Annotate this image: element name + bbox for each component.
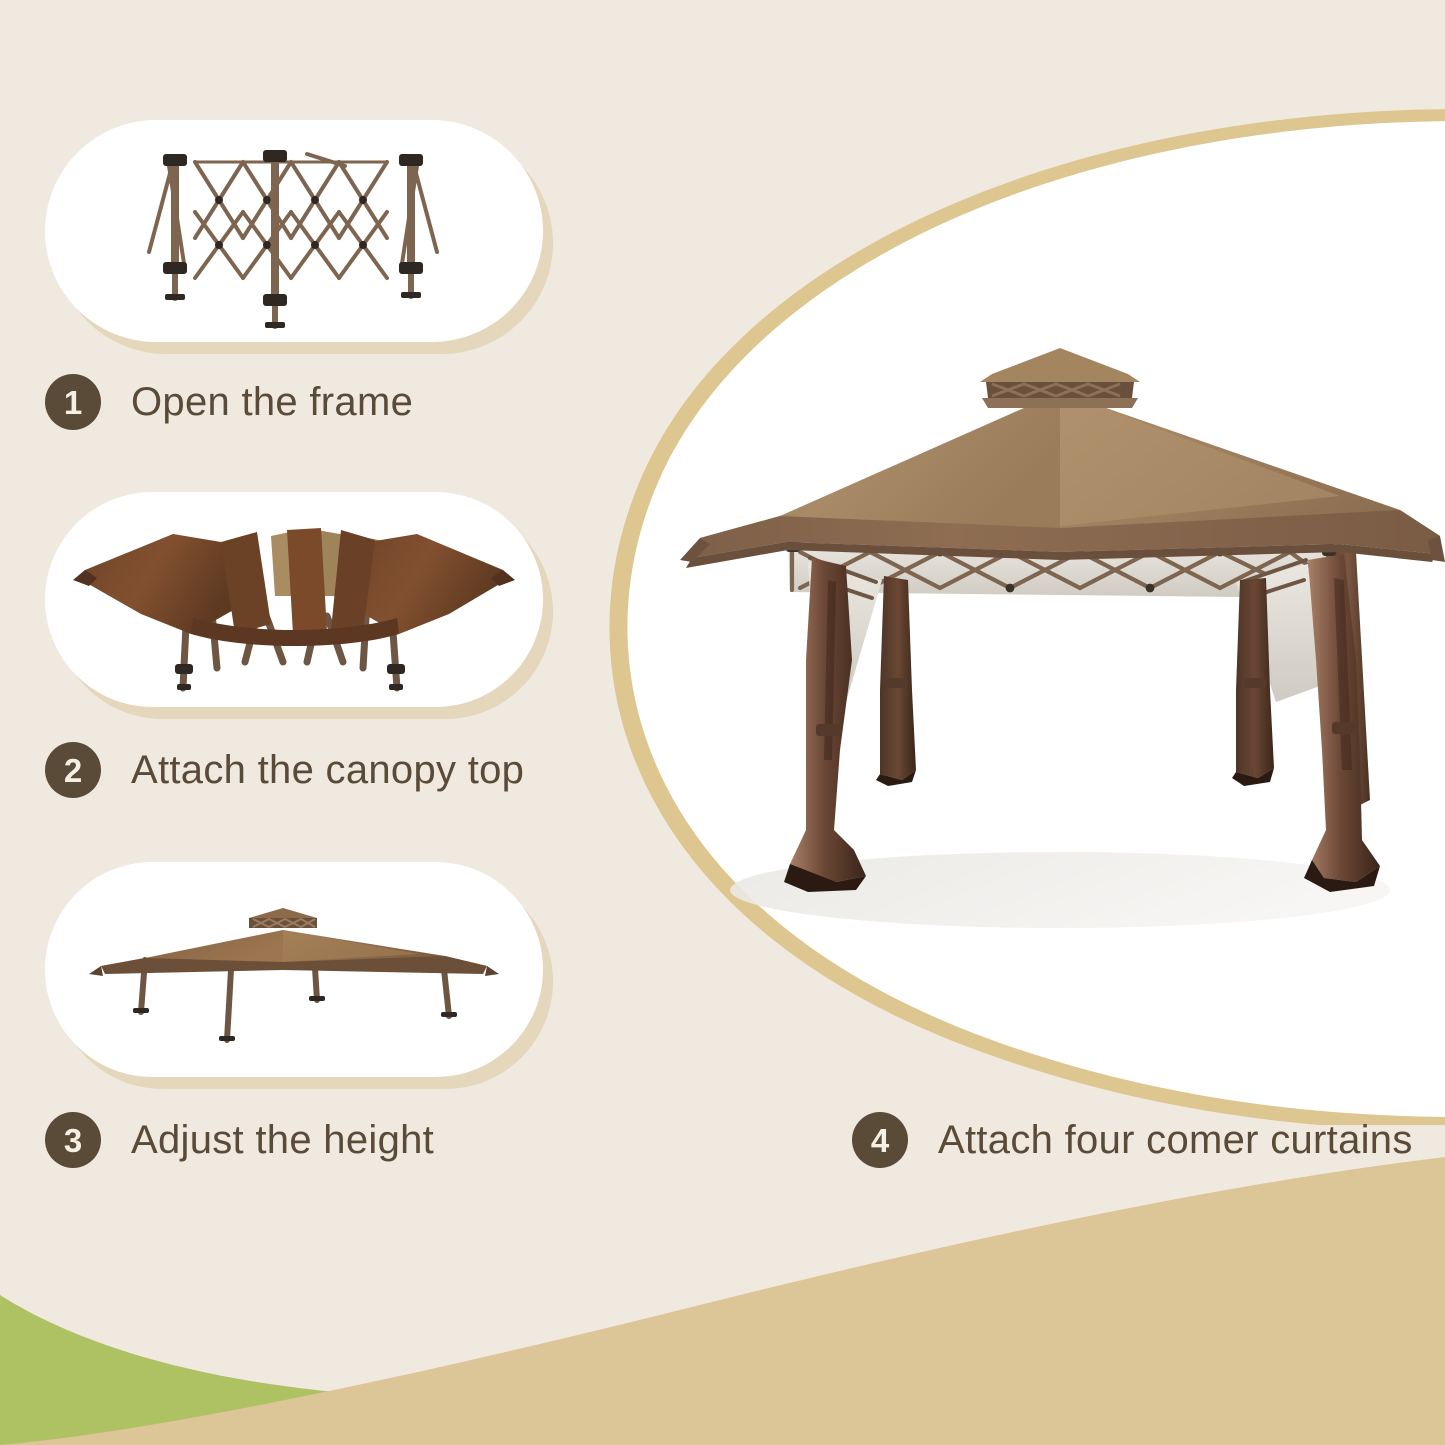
canopy-drape-center-fold-mid [287, 528, 327, 634]
step-3-row: 3 Adjust the height [45, 1112, 434, 1168]
folded-frame-photo [45, 120, 543, 342]
step-1-badge: 1 [45, 374, 101, 430]
step-2-label: Attach the canopy top [131, 748, 524, 793]
gazebo-with-corner-curtains-large-photo [640, 330, 1445, 950]
canopy-roof-left-slope [700, 392, 1060, 538]
vent-cap-base [982, 398, 1138, 408]
background-decorative-curves [0, 1145, 1445, 1445]
card3-roof-tip-left [89, 966, 103, 976]
canopy-drape-right-wing [353, 534, 503, 634]
instruction-graphic: 1 Open the frame 2 Attach the canopy top… [0, 0, 1445, 1445]
step-1-row: 1 Open the frame [45, 374, 413, 430]
step-2-row: 2 Attach the canopy top [45, 742, 524, 798]
step-2-image-card [45, 492, 543, 707]
vent-cap-roof [980, 348, 1140, 382]
step-4-label: Attach four comer curtains [938, 1118, 1413, 1163]
step-2-badge: 2 [45, 742, 101, 798]
step-3-image-card [45, 862, 543, 1077]
step-1-label: Open the frame [131, 380, 413, 425]
step-4-badge: 4 [852, 1112, 908, 1168]
step-1-image-card [45, 120, 543, 342]
card3-vent-cap [249, 908, 317, 918]
step-3-badge: 3 [45, 1112, 101, 1168]
canopy-drape-center-fold-left [221, 532, 271, 634]
canopy-drape-left-wing [85, 534, 237, 634]
step-3-label: Adjust the height [131, 1118, 434, 1163]
step-4-row: 4 Attach four comer curtains [852, 1112, 1413, 1168]
assembled-gazebo-photo [45, 862, 543, 1077]
card3-roof-tip-right [485, 966, 499, 976]
canopy-draped-over-frame-photo [45, 492, 543, 707]
hero-gazebo-image [640, 330, 1445, 950]
